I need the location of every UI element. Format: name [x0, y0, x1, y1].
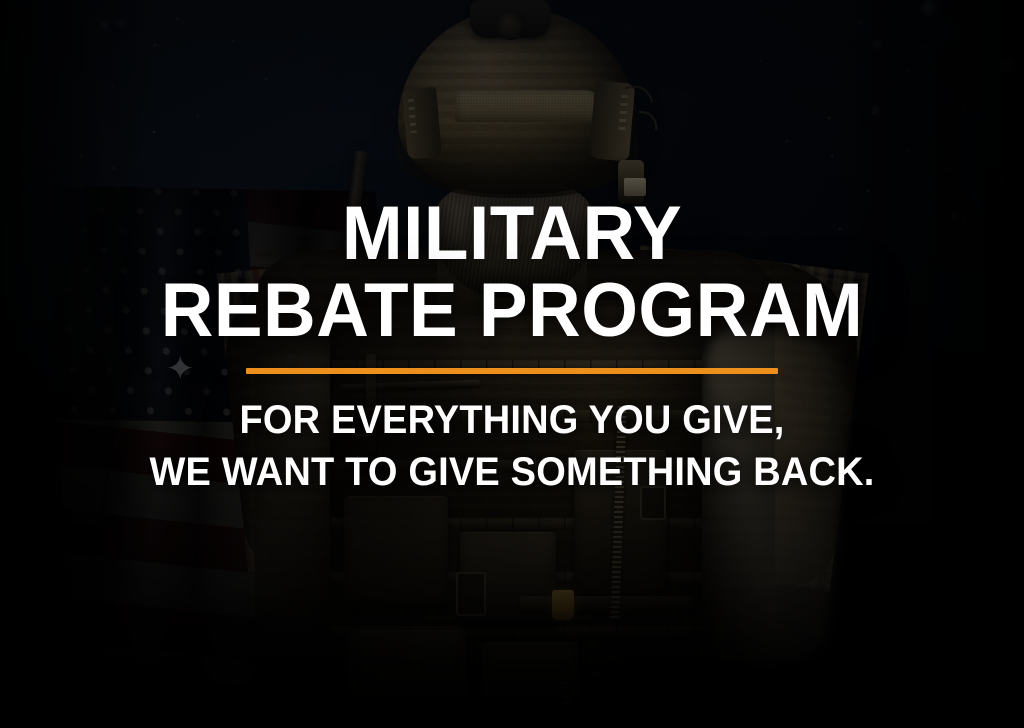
orange-divider: [246, 368, 778, 374]
headline-line-2: REBATE PROGRAM: [20, 275, 1003, 348]
banner-content: MILITARY REBATE PROGRAM FOR EVERYTHING Y…: [0, 0, 1024, 728]
military-rebate-banner: ✦ ✦ ✦: [0, 0, 1024, 728]
subtitle-line-2: WE WANT TO GIVE SOMETHING BACK.: [26, 450, 999, 496]
divider-wrapper: [0, 368, 1024, 374]
headline-line-1: MILITARY: [20, 198, 1003, 271]
subtitle-line-1: FOR EVERYTHING YOU GIVE,: [26, 398, 999, 444]
